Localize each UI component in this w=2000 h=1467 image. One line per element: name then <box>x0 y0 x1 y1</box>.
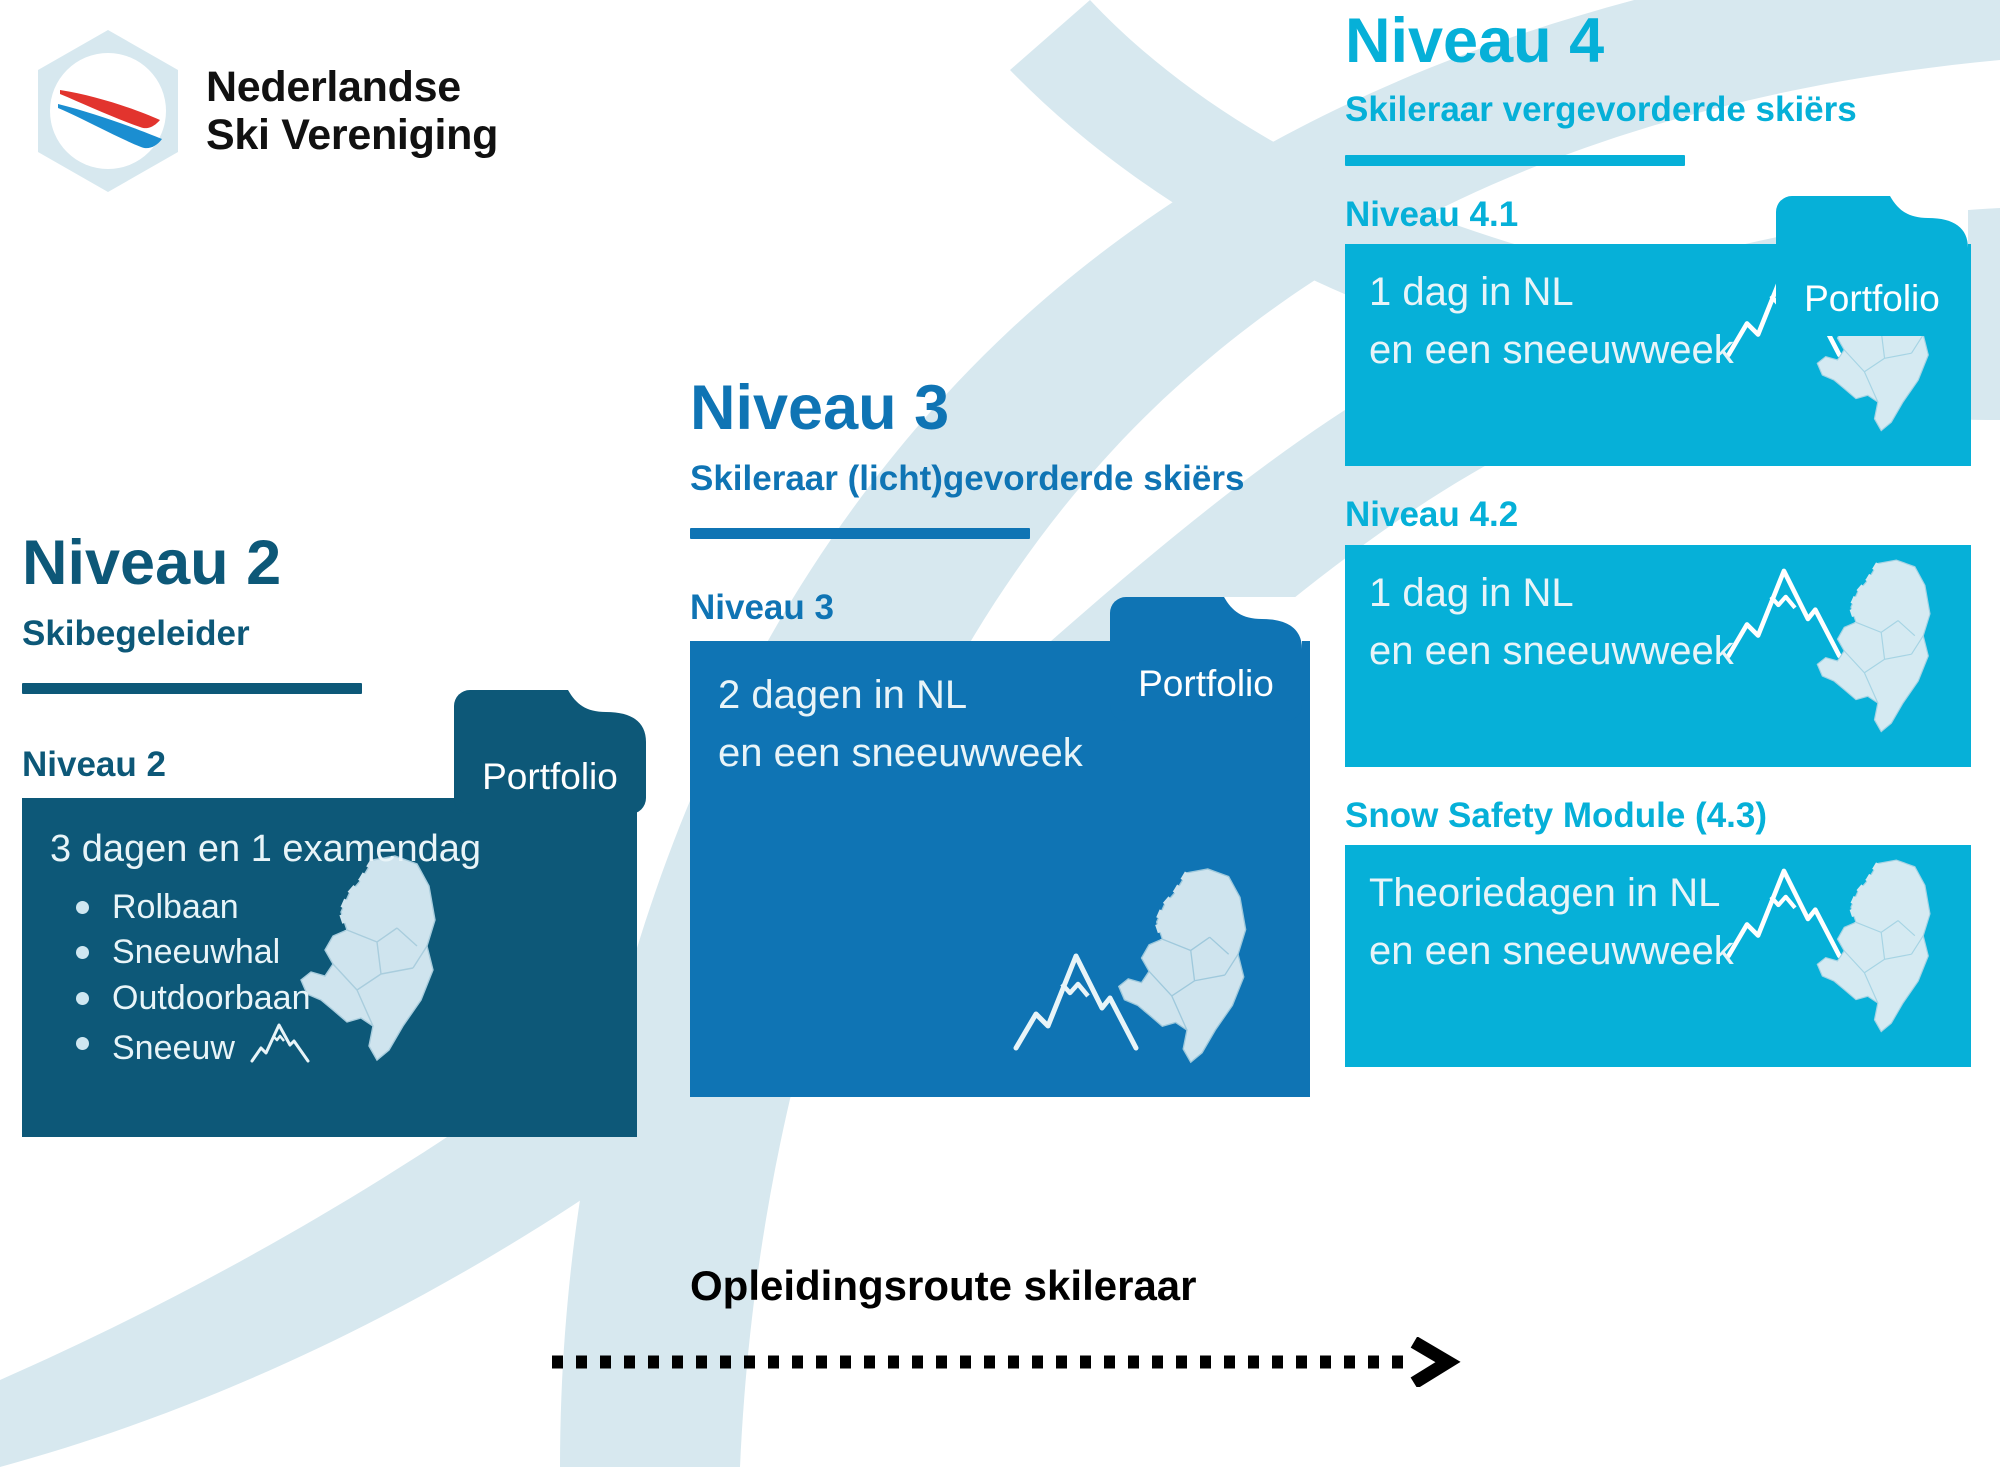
portfolio-badge-niveau4[interactable]: Portfolio <box>1776 196 1968 336</box>
box-label-snow-safety-module: Snow Safety Module (4.3) <box>1345 797 1985 836</box>
content-box-snow-safety-module: Theoriedagen in NL en een sneeuwweek <box>1345 845 1971 1067</box>
portfolio-label: Portfolio <box>1138 663 1274 721</box>
sublevel-4-3: Snow Safety Module (4.3) Theoriedagen in… <box>1345 797 1985 1068</box>
content-box-niveau2: 3 dagen en 1 examendag Rolbaan Sneeuwhal… <box>22 798 637 1137</box>
list-item: Sneeuw <box>68 1021 637 1075</box>
list-item: Rolbaan <box>68 885 637 930</box>
list-item: Sneeuwhal <box>68 930 637 975</box>
list-item: Outdoorbaan <box>68 976 637 1021</box>
level-divider-niveau2 <box>22 683 362 694</box>
ski-hexagon-logo-icon <box>28 26 188 196</box>
level-title-niveau4: Niveau 4 <box>1345 8 1985 74</box>
netherlands-map-icon <box>1096 860 1276 1075</box>
level-title-niveau3: Niveau 3 <box>690 375 1330 441</box>
portfolio-label: Portfolio <box>1804 278 1940 336</box>
folder-notch-icon <box>1202 597 1302 649</box>
content-box-niveau42: 1 dag in NL en een sneeuwweek <box>1345 545 1971 767</box>
level-divider-niveau4 <box>1345 155 1685 166</box>
level-subtitle-niveau4: Skileraar vergevorderde skiërs <box>1345 88 1985 133</box>
folder-notch-icon <box>1868 196 1968 248</box>
level-title-niveau2: Niveau 2 <box>22 530 662 596</box>
folder-notch-icon <box>546 690 646 742</box>
portfolio-label: Portfolio <box>482 756 618 814</box>
content-box-text-snow-safety-module: Theoriedagen in NL en een sneeuwweek <box>1345 865 1971 980</box>
content-box-text-niveau2: 3 dagen en 1 examendag <box>22 822 637 877</box>
footer-caption-block: Opleidingsroute skileraar <box>690 1262 1197 1310</box>
portfolio-badge-niveau3[interactable]: Portfolio <box>1110 597 1302 721</box>
level-column-niveau2: Niveau 2 Skibegeleider Niveau 2 3 dagen … <box>22 530 662 1137</box>
mountain-icon <box>249 1021 311 1075</box>
dotted-arrow-right-icon <box>548 1337 1468 1387</box>
level-subtitle-niveau3: Skileraar (licht)gevorderde skiërs <box>690 457 1330 502</box>
brand-logo: Nederlandse Ski Vereniging <box>28 26 498 196</box>
level-column-niveau4: Niveau 4 Skileraar vergevorderde skiërs … <box>1345 8 1985 1067</box>
sublevel-4-2: Niveau 4.2 1 dag in NL en een sneeuwweek <box>1345 496 1985 767</box>
level-column-niveau3: Niveau 3 Skileraar (licht)gevorderde ski… <box>690 375 1330 1097</box>
level-divider-niveau3 <box>690 528 1030 539</box>
brand-name: Nederlandse Ski Vereniging <box>206 63 498 159</box>
portfolio-badge-niveau2[interactable]: Portfolio <box>454 690 646 814</box>
footer-caption: Opleidingsroute skileraar <box>690 1262 1197 1310</box>
box-label-niveau42: Niveau 4.2 <box>1345 496 1985 535</box>
requirements-list: Rolbaan Sneeuwhal Outdoorbaan Sneeuw <box>22 885 637 1075</box>
infographic-canvas: Nederlandse Ski Vereniging Niveau 2 Skib… <box>0 0 2000 1467</box>
content-box-text-niveau42: 1 dag in NL en een sneeuwweek <box>1345 565 1971 680</box>
level-subtitle-niveau2: Skibegeleider <box>22 612 662 657</box>
mountain-icon <box>1010 948 1140 1053</box>
